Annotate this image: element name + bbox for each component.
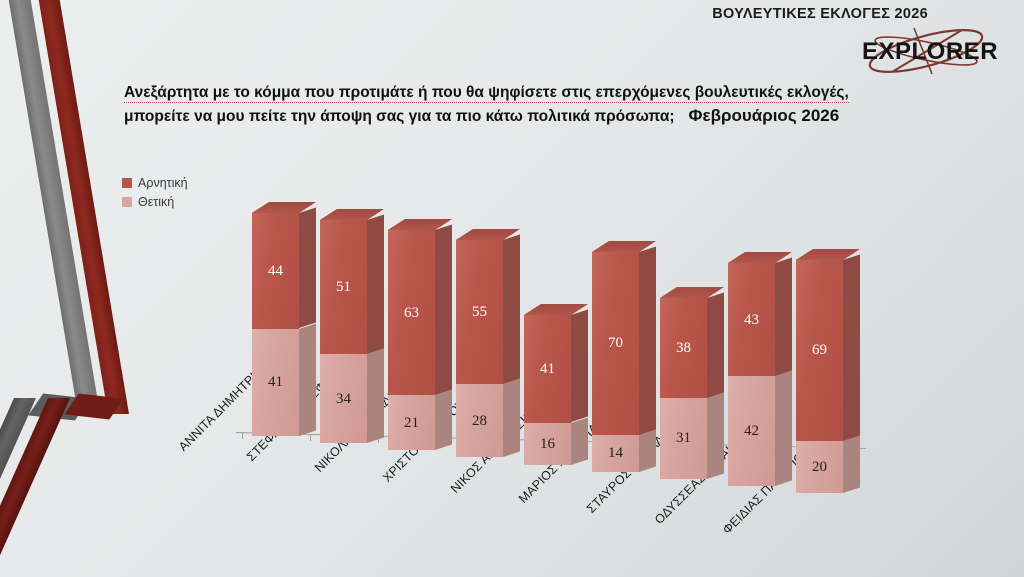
segment-negative-side [775, 258, 792, 376]
segment-negative-side [435, 225, 452, 396]
decor-band-red-lower [0, 398, 70, 577]
question-text: Ανεξάρτητα με το κόμμα που προτιμάτε ή π… [124, 82, 954, 129]
segment-positive-face [592, 435, 639, 472]
decor-band-red-joint [64, 394, 123, 420]
bar-column[interactable]: 1470 [592, 252, 639, 472]
bar-column[interactable]: 1641 [524, 315, 571, 464]
segment-negative-face [660, 298, 707, 398]
segment-negative[interactable]: 55 [456, 240, 503, 384]
segment-negative-face [728, 263, 775, 376]
segment-negative[interactable]: 70 [592, 252, 639, 435]
segment-negative-side [299, 208, 316, 329]
segment-positive[interactable]: 14 [592, 435, 639, 472]
segment-negative-face [320, 220, 367, 354]
segment-negative-face [796, 260, 843, 441]
bar-column[interactable]: 3138 [660, 298, 707, 479]
segment-positive-face [728, 376, 775, 486]
decor-band-red-upper [38, 0, 129, 414]
segment-positive-side [435, 390, 452, 451]
slide-canvas: ΒΟΥΛΕΥΤΙΚΕΣ ΕΚΛΟΓΕΣ 2026 EXPLORER Ανεξάρ… [0, 0, 1024, 577]
segment-positive[interactable]: 21 [388, 395, 435, 450]
bar-column[interactable]: 2163 [388, 230, 435, 450]
decor-band-grey-lower [0, 398, 36, 577]
segment-negative-side [843, 254, 860, 440]
segment-positive-face [456, 384, 503, 457]
segment-positive[interactable]: 28 [456, 384, 503, 457]
segment-positive-side [367, 349, 384, 444]
segment-positive-side [299, 323, 316, 436]
segment-positive-face [320, 354, 367, 443]
decor-band-grey-joint [28, 393, 90, 420]
segment-positive-side [639, 429, 656, 471]
legend-label-positive: Θετική [138, 195, 174, 209]
explorer-logo: EXPLORER [854, 24, 1004, 78]
segment-positive-face [796, 441, 843, 493]
segment-negative-face [456, 240, 503, 384]
segment-negative-side [367, 215, 384, 354]
segment-positive[interactable]: 20 [796, 441, 843, 493]
segment-negative-side [639, 246, 656, 435]
segment-negative-face [524, 315, 571, 422]
legend-swatch-negative [122, 178, 132, 188]
segment-negative[interactable]: 69 [796, 260, 843, 441]
bar-column[interactable]: 2855 [456, 240, 503, 457]
bar-column[interactable]: 4243 [728, 263, 775, 486]
segment-negative[interactable]: 38 [660, 298, 707, 398]
legend-item-negative[interactable]: Αρνητική [122, 176, 188, 190]
segment-positive-side [503, 379, 520, 458]
question-line-1: Ανεξάρτητα με το κόμμα που προτιμάτε ή π… [124, 84, 849, 103]
page-title: ΒΟΥΛΕΥΤΙΚΕΣ ΕΚΛΟΓΕΣ 2026 [712, 6, 928, 22]
segment-negative-side [571, 310, 588, 423]
segment-negative-face [252, 213, 299, 328]
segment-positive-side [775, 370, 792, 486]
segment-positive-face [252, 329, 299, 436]
axis-tick [242, 432, 243, 439]
segment-negative[interactable]: 63 [388, 230, 435, 395]
chart-legend: Αρνητική Θετική [122, 176, 188, 214]
decor-band-grey-upper [8, 0, 100, 414]
segment-positive[interactable]: 41 [252, 329, 299, 436]
segment-positive-side [571, 417, 588, 464]
segment-positive[interactable]: 34 [320, 354, 367, 443]
segment-negative[interactable]: 41 [524, 315, 571, 422]
segment-positive-face [524, 423, 571, 465]
segment-negative-face [592, 252, 639, 435]
segment-positive[interactable]: 31 [660, 398, 707, 479]
segment-negative[interactable]: 44 [252, 213, 299, 328]
segment-negative-face [388, 230, 435, 395]
segment-negative-side [503, 234, 520, 384]
bar-column[interactable]: 4144 [252, 213, 299, 436]
segment-positive[interactable]: 42 [728, 376, 775, 486]
logo-wordmark: EXPLORER [862, 38, 998, 66]
axis-tick [310, 434, 311, 441]
chart-plot-area: 414434512163285516411470313842432069 [240, 128, 880, 438]
bar-column[interactable]: 3451 [320, 220, 367, 443]
segment-positive-face [660, 398, 707, 479]
segment-positive-face [388, 395, 435, 450]
segment-negative[interactable]: 43 [728, 263, 775, 376]
legend-label-negative: Αρνητική [138, 176, 188, 190]
segment-negative-side [707, 293, 724, 398]
segment-negative[interactable]: 51 [320, 220, 367, 354]
segment-positive-side [843, 435, 860, 493]
question-line-2: μποpείτε να μου πείτε την άποψη σας για … [124, 108, 675, 125]
segment-positive[interactable]: 16 [524, 423, 571, 465]
legend-swatch-positive [122, 197, 132, 207]
bar-column[interactable]: 2069 [796, 260, 843, 493]
legend-item-positive[interactable]: Θετική [122, 195, 188, 209]
survey-month: Φεβρουάριος 2026 [689, 106, 840, 125]
segment-positive-side [707, 392, 724, 479]
